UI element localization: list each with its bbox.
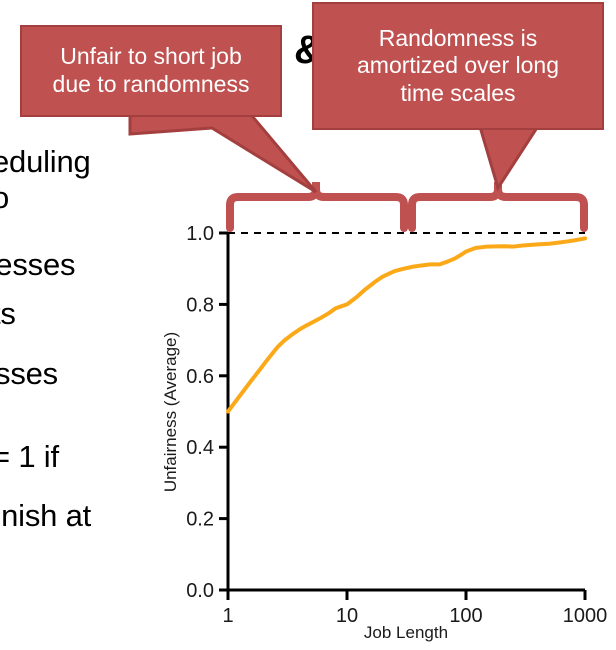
callout-2-line-2: time scales <box>400 80 515 106</box>
y-tick-label: 0.8 <box>186 294 214 316</box>
callout-1-line-1: due to randomness <box>53 71 250 97</box>
x-tick-label: 1000 <box>563 605 608 627</box>
x-axis-label: Job Length <box>364 623 448 642</box>
callout-randomness-amortized[interactable]: Randomness is amortized over long time s… <box>312 2 604 130</box>
callout-1-tail-shape <box>130 104 316 192</box>
callout-1-text: Unfair to short job due to randomness <box>53 43 250 98</box>
y-axis-label: Unfairness (Average) <box>161 332 180 492</box>
callout-2-line-1: amortized over long <box>357 52 559 78</box>
y-tick-label: 0.6 <box>186 366 214 388</box>
callout-unfair-short-job[interactable]: Unfair to short job due to randomness <box>20 25 282 117</box>
y-tick-label: 0.4 <box>186 437 214 459</box>
callout-2-text: Randomness is amortized over long time s… <box>357 25 559 108</box>
y-tick-label: 0.2 <box>186 509 214 531</box>
y-tick-label: 0.0 <box>186 580 214 602</box>
callout-2-line-0: Randomness is <box>379 25 538 51</box>
y-tick-label: 1.0 <box>186 223 214 245</box>
x-tick-label: 10 <box>336 605 358 627</box>
slide-canvas: & eduling o cesses ts esses = 1 if finis… <box>0 0 616 650</box>
y-axis-ticks: 0.00.20.40.60.81.0 <box>186 223 228 602</box>
x-tick-label: 100 <box>449 605 482 627</box>
callout-1-tail <box>130 104 330 194</box>
x-axis-ticks: 1101001000 <box>222 590 607 627</box>
callout-1-line-0: Unfair to short job <box>60 43 242 69</box>
plot-area <box>228 233 585 590</box>
x-tick-label: 1 <box>222 605 233 627</box>
